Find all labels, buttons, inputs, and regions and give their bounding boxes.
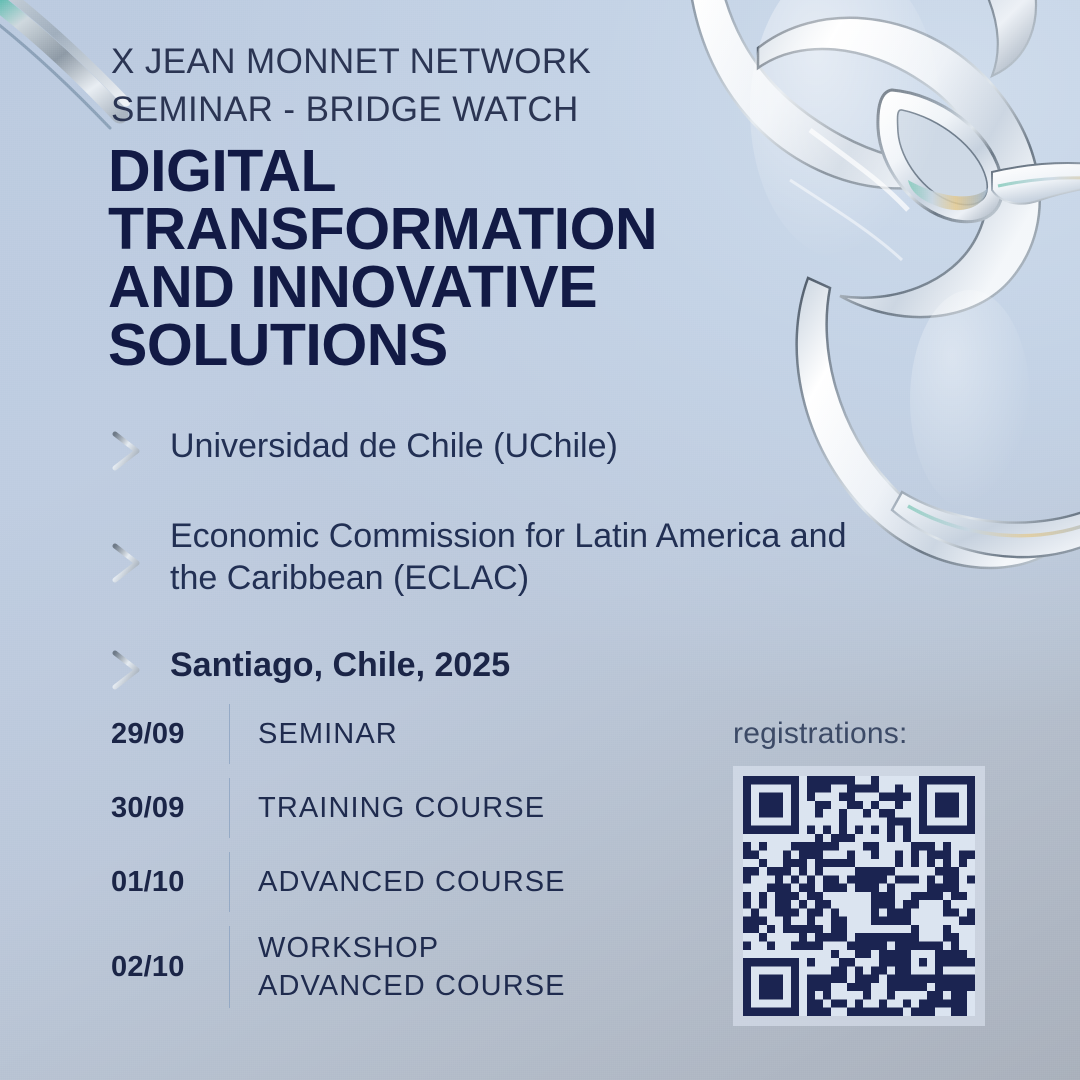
schedule-divider [229, 704, 230, 764]
chevron-right-icon [108, 428, 170, 474]
schedule-label-line-1: WORKSHOP [258, 929, 566, 967]
event-poster: X JEAN MONNET NETWORK SEMINAR - BRIDGE W… [0, 0, 1080, 1080]
registration-qr-code[interactable] [733, 766, 985, 1026]
schedule-list: 29/09 SEMINAR 30/09 TRAINING COURSE 01/1… [111, 697, 731, 1015]
schedule-date: 01/10 [111, 866, 229, 899]
schedule-date: 30/09 [111, 792, 229, 825]
schedule-date: 02/10 [111, 951, 229, 984]
list-item: Santiago, Chile, 2025 [108, 643, 868, 689]
list-item-label: Economic Commission for Latin America an… [170, 514, 868, 599]
schedule-divider [229, 852, 230, 912]
title-line-1: DIGITAL [108, 142, 657, 200]
registrations-label: registrations: [733, 717, 908, 751]
schedule-label-line-2: ADVANCED COURSE [258, 967, 566, 1005]
schedule-row: 02/10 WORKSHOP ADVANCED COURSE [111, 919, 731, 1015]
schedule-label: ADVANCED COURSE [230, 863, 566, 901]
chevron-right-icon [108, 540, 170, 586]
schedule-row: 01/10 ADVANCED COURSE [111, 845, 731, 919]
organizer-list: Universidad de Chile (UChile) Economic C… [108, 424, 868, 689]
title-line-4: SOLUTIONS [108, 316, 657, 374]
schedule-divider [229, 926, 230, 1008]
schedule-label: SEMINAR [230, 715, 398, 753]
list-item-label: Santiago, Chile, 2025 [170, 643, 510, 686]
schedule-date: 29/09 [111, 718, 229, 751]
list-item: Economic Commission for Latin America an… [108, 514, 868, 599]
title-line-2: TRANSFORMATION [108, 200, 657, 258]
schedule-label: WORKSHOP ADVANCED COURSE [230, 929, 566, 1005]
page-title: DIGITAL TRANSFORMATION AND INNOVATIVE SO… [108, 142, 657, 374]
title-line-3: AND INNOVATIVE [108, 258, 657, 316]
schedule-row: 29/09 SEMINAR [111, 697, 731, 771]
qr-code-icon [743, 776, 975, 1016]
list-item-label: Universidad de Chile (UChile) [170, 424, 618, 467]
eyebrow-line-2: SEMINAR - BRIDGE WATCH [111, 86, 591, 134]
list-item: Universidad de Chile (UChile) [108, 424, 868, 470]
eyebrow-line-1: X JEAN MONNET NETWORK [111, 38, 591, 86]
schedule-label: TRAINING COURSE [230, 789, 545, 827]
schedule-row: 30/09 TRAINING COURSE [111, 771, 731, 845]
schedule-divider [229, 778, 230, 838]
eyebrow-heading: X JEAN MONNET NETWORK SEMINAR - BRIDGE W… [111, 38, 591, 134]
chevron-right-icon [108, 647, 170, 693]
